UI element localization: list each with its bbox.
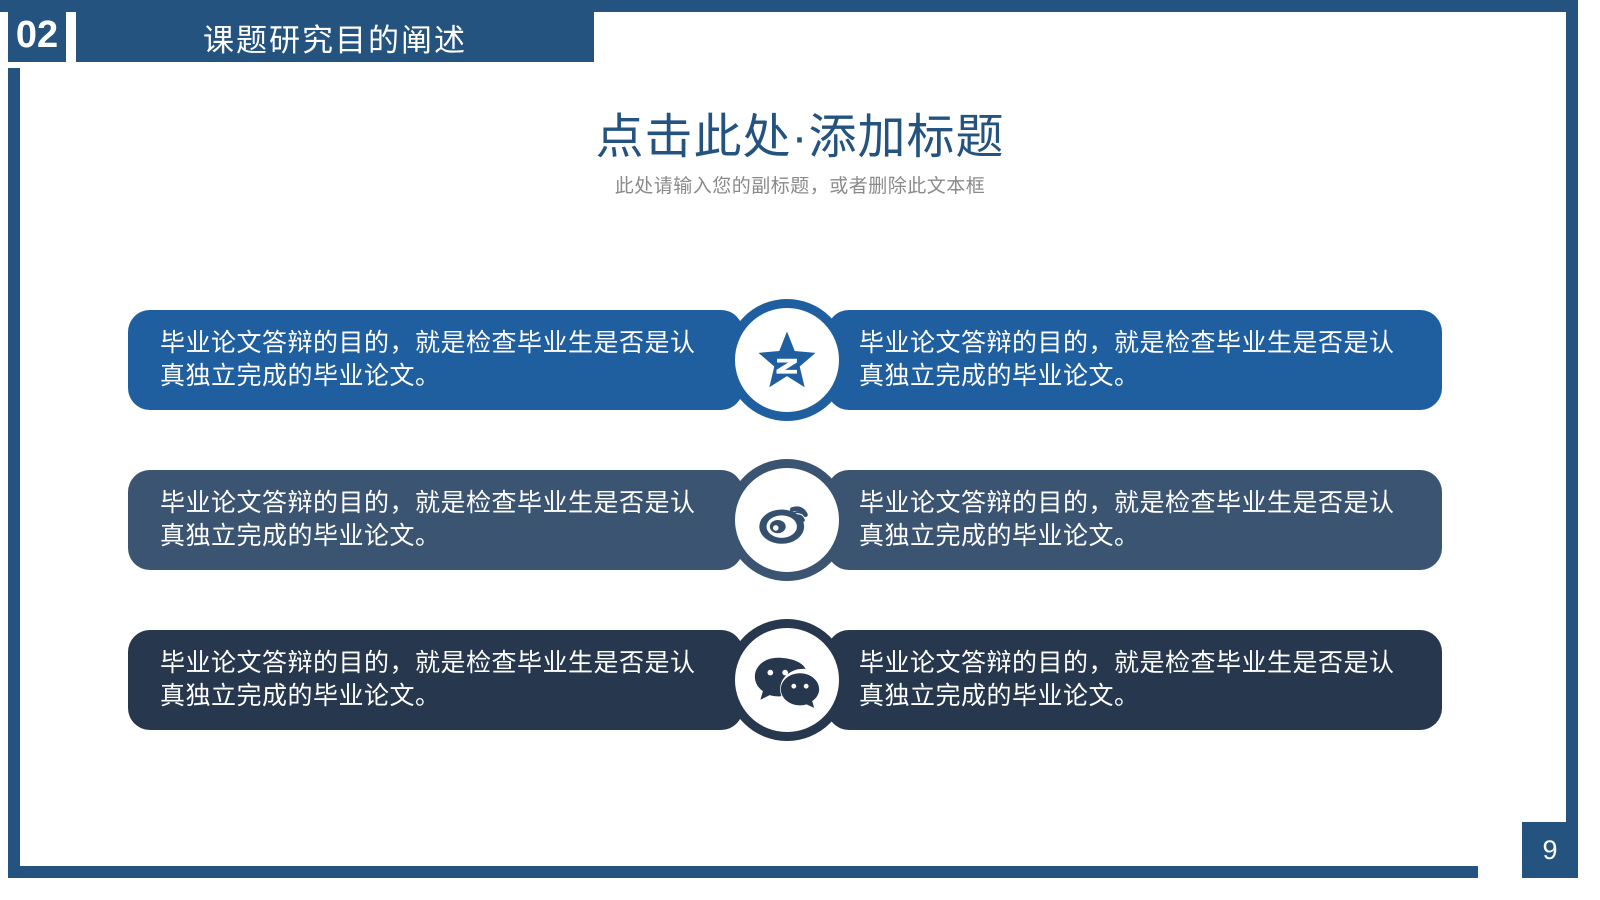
info-pill-right-text: 毕业论文答辩的目的，就是检查毕业生是否是认真独立完成的毕业论文。 bbox=[859, 487, 1410, 553]
content-row: 毕业论文答辩的目的，就是检查毕业生是否是认真独立完成的毕业论文。毕业论文答辩的目… bbox=[0, 310, 1600, 410]
info-pill-right-text: 毕业论文答辩的目的，就是检查毕业生是否是认真独立完成的毕业论文。 bbox=[859, 327, 1410, 393]
info-pill-right-text: 毕业论文答辩的目的，就是检查毕业生是否是认真独立完成的毕业论文。 bbox=[859, 647, 1410, 713]
page-title: 点击此处·添加标题 bbox=[0, 110, 1600, 165]
info-pill-right[interactable]: 毕业论文答辩的目的，就是检查毕业生是否是认真独立完成的毕业论文。 bbox=[827, 470, 1442, 570]
section-number-badge: 02 bbox=[8, 8, 66, 62]
icon-badge[interactable] bbox=[726, 619, 848, 741]
info-pill-left[interactable]: 毕业论文答辩的目的，就是检查毕业生是否是认真独立完成的毕业论文。 bbox=[128, 470, 743, 570]
header-title-bar: 课题研究目的阐述 bbox=[76, 12, 594, 62]
section-number-text: 02 bbox=[16, 16, 58, 54]
page-number-text: 9 bbox=[1542, 837, 1557, 864]
frame-top-bar bbox=[0, 0, 1569, 12]
title-block: 点击此处·添加标题 此处请输入您的副标题，或者删除此文本框 bbox=[0, 110, 1600, 198]
content-row: 毕业论文答辩的目的，就是检查毕业生是否是认真独立完成的毕业论文。毕业论文答辩的目… bbox=[0, 470, 1600, 570]
info-pill-right[interactable]: 毕业论文答辩的目的，就是检查毕业生是否是认真独立完成的毕业论文。 bbox=[827, 310, 1442, 410]
frame-bottom-bar bbox=[8, 866, 1478, 878]
icon-badge[interactable] bbox=[726, 459, 848, 581]
info-pill-left-text: 毕业论文答辩的目的，就是检查毕业生是否是认真独立完成的毕业论文。 bbox=[160, 327, 717, 393]
info-pill-left-text: 毕业论文答辩的目的，就是检查毕业生是否是认真独立完成的毕业论文。 bbox=[160, 647, 717, 713]
qzone-star-icon bbox=[739, 312, 835, 408]
presentation-slide: 课题研究目的阐述 02 点击此处·添加标题 此处请输入您的副标题，或者删除此文本… bbox=[0, 0, 1600, 900]
page-number-badge: 9 bbox=[1522, 822, 1578, 878]
info-pill-right[interactable]: 毕业论文答辩的目的，就是检查毕业生是否是认真独立完成的毕业论文。 bbox=[827, 630, 1442, 730]
info-pill-left[interactable]: 毕业论文答辩的目的，就是检查毕业生是否是认真独立完成的毕业论文。 bbox=[128, 310, 743, 410]
page-subtitle: 此处请输入您的副标题，或者删除此文本框 bbox=[0, 171, 1600, 198]
weibo-icon bbox=[739, 472, 835, 568]
content-row: 毕业论文答辩的目的，就是检查毕业生是否是认真独立完成的毕业论文。毕业论文答辩的目… bbox=[0, 630, 1600, 730]
content-rows: 毕业论文答辩的目的，就是检查毕业生是否是认真独立完成的毕业论文。毕业论文答辩的目… bbox=[0, 310, 1600, 730]
info-pill-left-text: 毕业论文答辩的目的，就是检查毕业生是否是认真独立完成的毕业论文。 bbox=[160, 487, 717, 553]
wechat-icon bbox=[739, 632, 835, 728]
header-title-text: 课题研究目的阐述 bbox=[76, 12, 594, 62]
info-pill-left[interactable]: 毕业论文答辩的目的，就是检查毕业生是否是认真独立完成的毕业论文。 bbox=[128, 630, 743, 730]
icon-badge[interactable] bbox=[726, 299, 848, 421]
